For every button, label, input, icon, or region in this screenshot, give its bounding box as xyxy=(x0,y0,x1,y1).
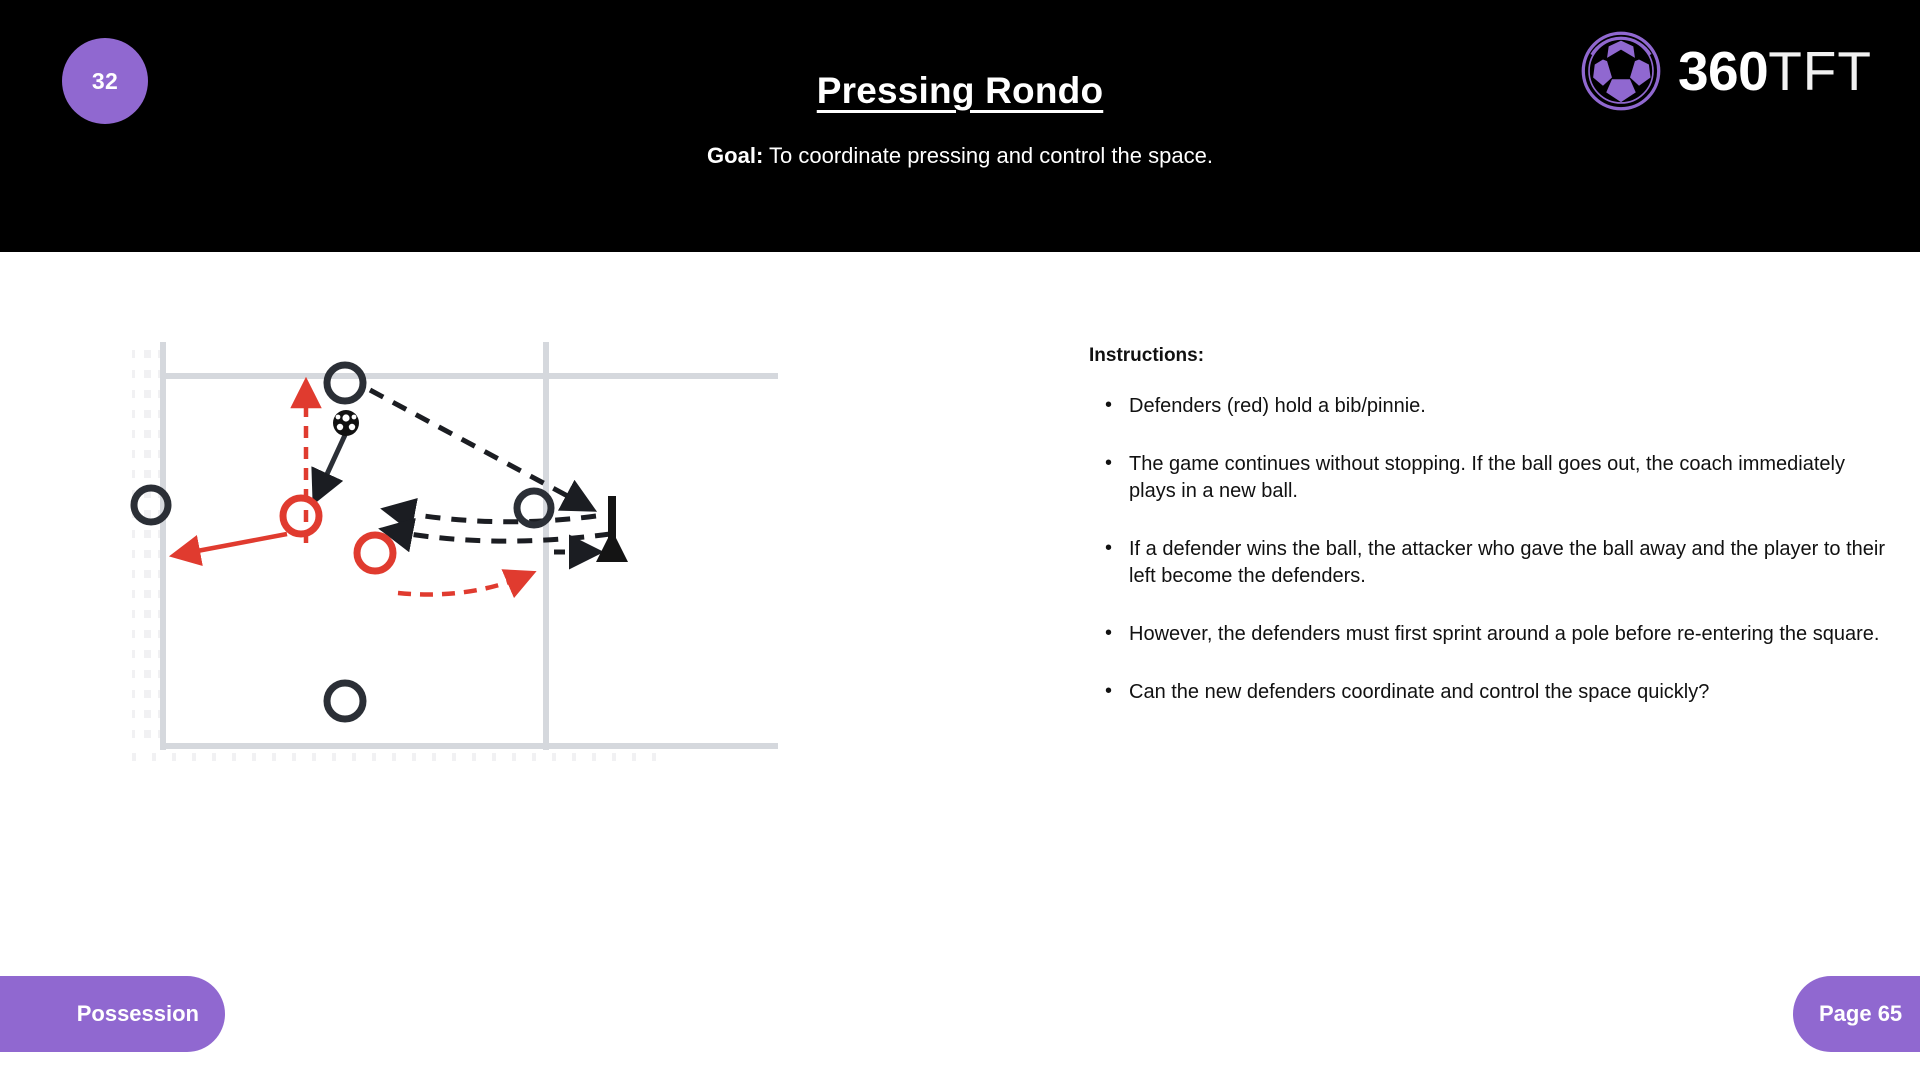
instructions-list: Defenders (red) hold a bib/pinnie. The g… xyxy=(1089,393,1889,706)
goal-text: To coordinate pressing and control the s… xyxy=(763,143,1213,168)
page-header: 32 Pressing Rondo Goal: To coordinate pr… xyxy=(0,0,1920,252)
brand-primary-text: 360 xyxy=(1678,44,1768,99)
movement-defender-pass-to-left-attacker xyxy=(176,534,287,555)
movement-player-run-to-defender xyxy=(316,435,345,498)
movement-defender-support-run xyxy=(398,574,530,594)
soccer-ball-icon xyxy=(1580,30,1662,112)
movement-pass-top-to-right xyxy=(370,390,590,508)
pitch-lines xyxy=(163,342,778,750)
instruction-item: Defenders (red) hold a bib/pinnie. xyxy=(1089,393,1889,419)
soccer-ball-marker xyxy=(333,410,359,436)
player-attacker-bottom xyxy=(327,683,363,719)
pole-icon xyxy=(596,496,628,562)
instructions-panel: Instructions: Defenders (red) hold a bib… xyxy=(1089,345,1889,738)
slide-page: 32 Pressing Rondo Goal: To coordinate pr… xyxy=(0,0,1920,1080)
drill-diagram xyxy=(130,338,780,868)
player-defender-lower xyxy=(357,535,393,571)
page-number-label: Page 65 xyxy=(1819,1001,1902,1027)
category-pill: Possession xyxy=(0,976,225,1052)
page-number-pill: Page 65 xyxy=(1793,976,1920,1052)
player-defender-upper xyxy=(283,498,319,534)
instruction-item: The game continues without stopping. If … xyxy=(1089,451,1889,504)
instruction-item: Can the new defenders coordinate and con… xyxy=(1089,679,1889,705)
instructions-heading: Instructions: xyxy=(1089,345,1889,367)
movement-pass-right-to-left-lower xyxy=(386,530,610,541)
instruction-item: However, the defenders must first sprint… xyxy=(1089,621,1889,647)
instruction-item: If a defender wins the ball, the attacke… xyxy=(1089,536,1889,589)
brand-secondary-text: TFT xyxy=(1768,44,1872,99)
drill-diagram-svg xyxy=(130,338,780,868)
goal-statement: Goal: To coordinate pressing and control… xyxy=(0,143,1920,169)
player-attacker-top xyxy=(327,365,363,401)
movement-pass-right-to-left-upper xyxy=(388,510,596,522)
category-label: Possession xyxy=(77,1001,199,1027)
brand-wordmark: 360TFT xyxy=(1678,44,1872,99)
brand-logo: 360TFT xyxy=(1580,30,1872,112)
goal-label: Goal: xyxy=(707,143,763,168)
ruler-marks-vertical xyxy=(132,350,161,738)
ruler-marks-horizontal xyxy=(132,753,656,761)
